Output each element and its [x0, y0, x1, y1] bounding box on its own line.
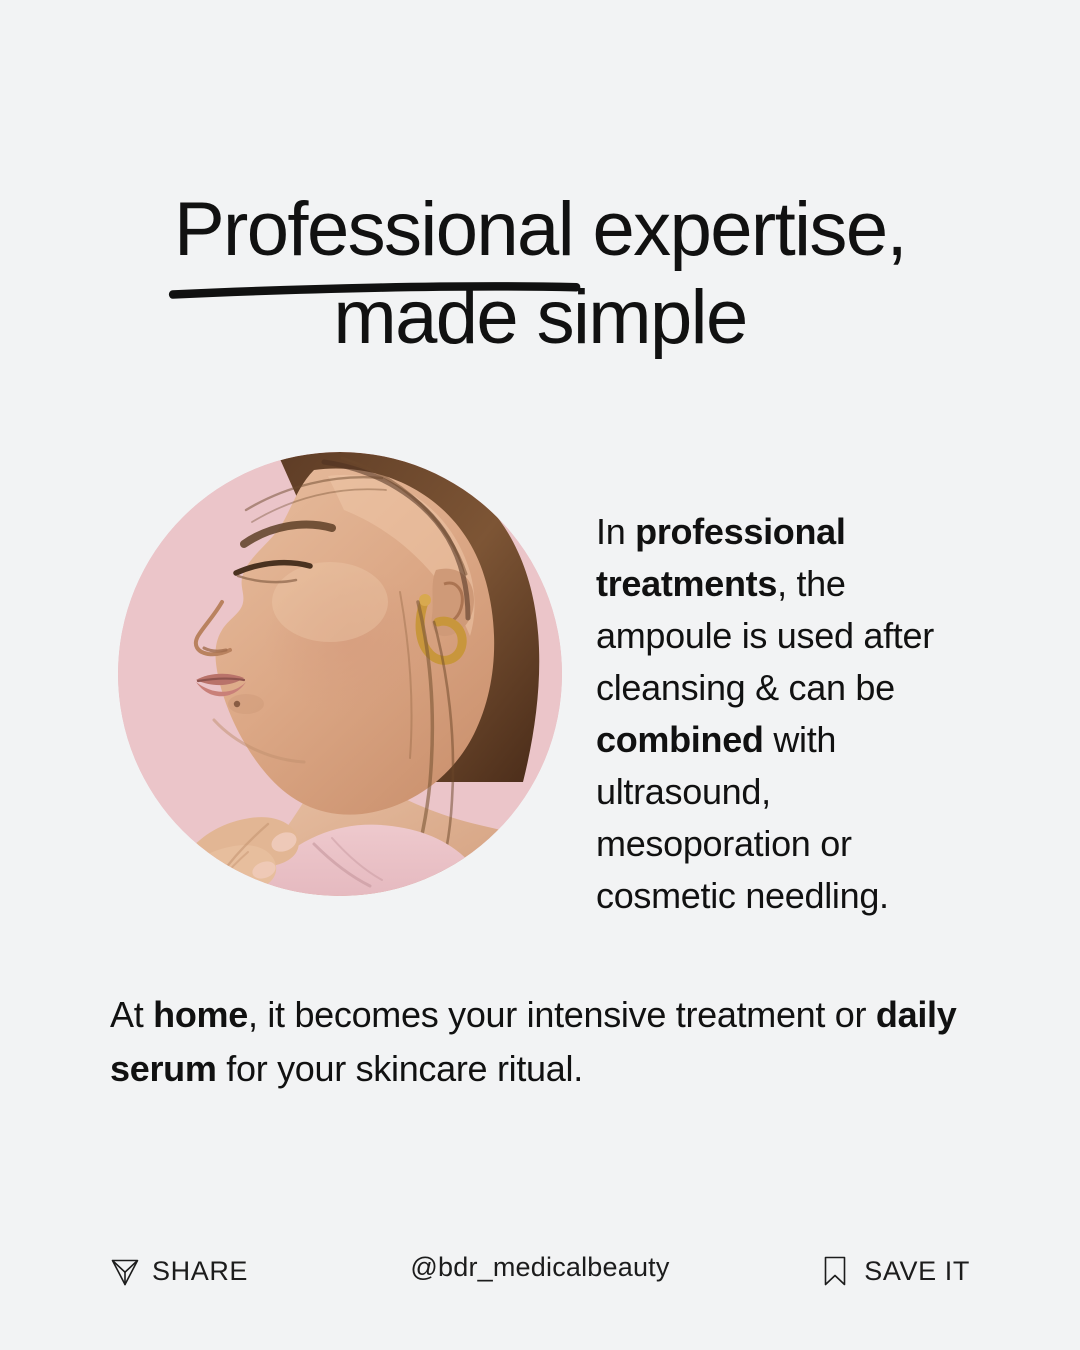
headline-word-professional: Professional: [174, 187, 573, 272]
portrait-illustration: [118, 452, 562, 896]
save-label: SAVE IT: [864, 1258, 970, 1285]
bookmark-icon[interactable]: [822, 1254, 852, 1288]
headline-rest-1: expertise,: [573, 187, 906, 272]
paragraph-at-home: At home, it becomes your intensive treat…: [110, 988, 990, 1096]
headline-line-1: Professional expertise,: [0, 186, 1080, 274]
account-handle-label: @bdr_medicalbeauty: [410, 1254, 669, 1281]
portrait-image: [118, 452, 562, 896]
headline-line-2: made simple: [0, 274, 1080, 362]
post-canvas: Professional expertise, made simple: [0, 0, 1080, 1350]
page-title: Professional expertise, made simple: [0, 186, 1080, 362]
para2-seg-1-bold: home: [153, 994, 248, 1035]
save-button[interactable]: SAVE IT: [822, 1254, 970, 1288]
para-seg-0: In: [596, 511, 635, 552]
headline-underlined-word: Professional: [174, 186, 573, 274]
bookmark-glyph: [822, 1254, 848, 1288]
footer-bar: SHARE @bdr_medicalbeauty SAVE IT: [0, 1246, 1080, 1306]
para2-seg-2: , it becomes your intensive treatment or: [248, 994, 876, 1035]
paragraph-professional-treatments: In professional treatments, the ampoule …: [596, 506, 968, 922]
para2-seg-0: At: [110, 994, 153, 1035]
para-seg-3-bold: combined: [596, 719, 764, 760]
para2-seg-4: for your skincare ritual.: [217, 1048, 583, 1089]
